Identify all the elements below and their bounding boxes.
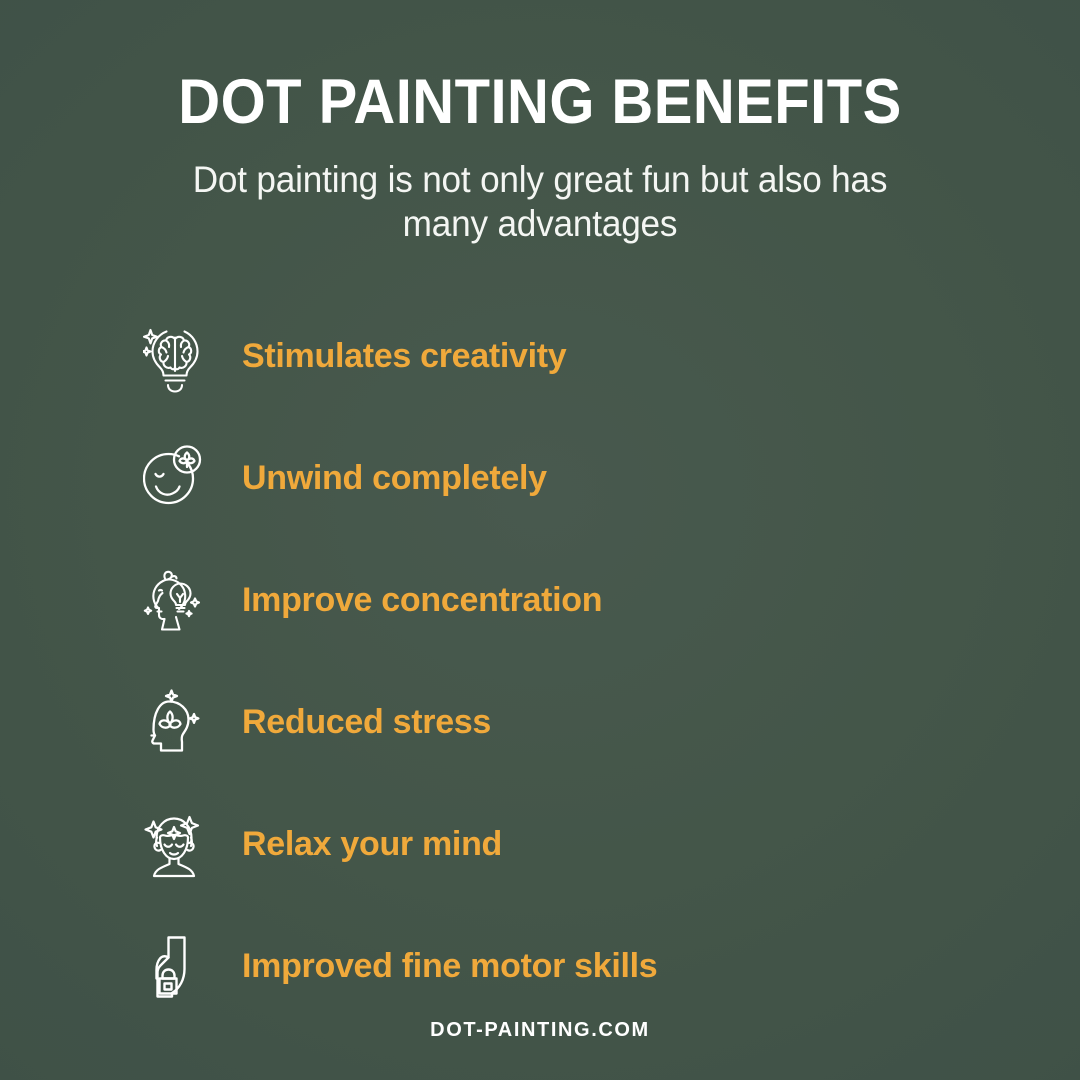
list-item: Improved fine motor skills	[143, 906, 1080, 1028]
list-item-label: Improved fine motor skills	[242, 947, 657, 986]
list-item: Unwind completely	[143, 418, 1080, 540]
calm-face-stars-icon	[143, 807, 209, 883]
list-item-label: Unwind completely	[242, 459, 547, 498]
head-profile-lotus-icon	[143, 685, 209, 761]
poster: DOT PAINTING BENEFITS Dot painting is no…	[0, 0, 1080, 1080]
benefits-list: Stimulates creativity	[0, 296, 1080, 1028]
page-subtitle: Dot painting is not only great fun but a…	[165, 158, 916, 245]
list-item-label: Improve concentration	[242, 581, 602, 620]
list-item: Reduced stress	[143, 662, 1080, 784]
head-profile-lightbulb-icon	[143, 563, 209, 639]
footer: DOT-PAINTING.COM	[0, 1019, 1080, 1042]
hand-holding-object-icon	[143, 929, 209, 1005]
list-item-label: Reduced stress	[242, 703, 491, 742]
website-url: DOT-PAINTING.COM	[430, 1019, 650, 1041]
smiling-face-flower-icon	[143, 441, 209, 517]
list-item: Relax your mind	[143, 784, 1080, 906]
list-item: Stimulates creativity	[143, 296, 1080, 418]
lightbulb-brain-sparkle-icon	[143, 319, 209, 395]
list-item: Improve concentration	[143, 540, 1080, 662]
list-item-label: Stimulates creativity	[242, 337, 566, 376]
header: DOT PAINTING BENEFITS Dot painting is no…	[0, 0, 1080, 246]
page-title: DOT PAINTING BENEFITS	[43, 70, 1037, 134]
list-item-label: Relax your mind	[242, 825, 502, 864]
